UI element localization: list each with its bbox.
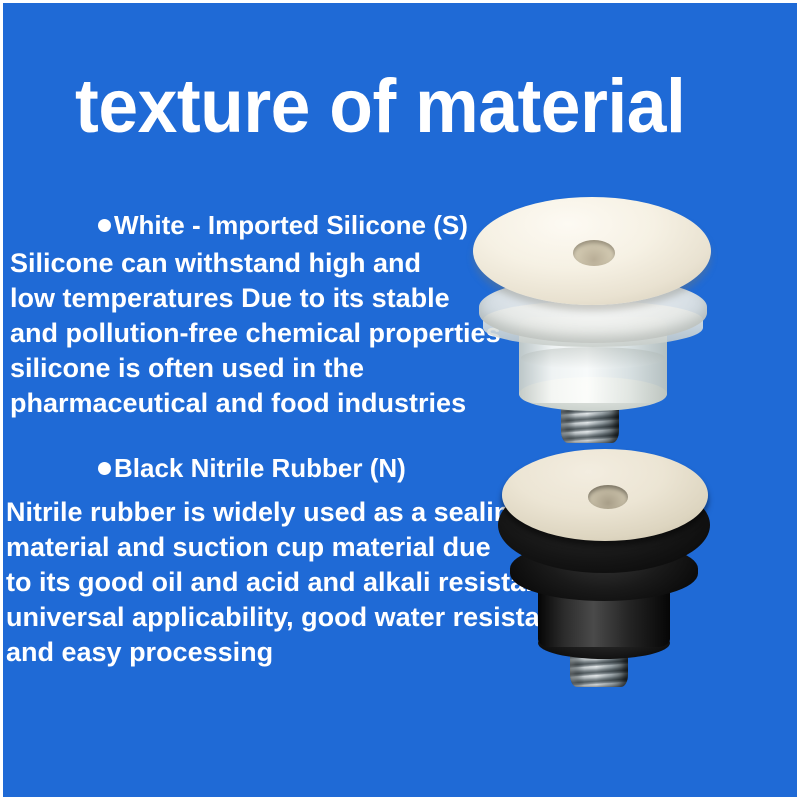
cup-top-disc [502,449,708,541]
product-image-white-silicone-suction-cup [473,189,713,439]
cup-top-disc [473,197,711,305]
product-image-black-nitrile-suction-cup [498,449,713,684]
body-line: and pollution-free chemical properties [10,316,503,351]
section-body-black-nitrile: Nitrile rubber is widely used as a seali… [3,495,548,670]
body-line: to its good oil and acid and alkali resi… [6,565,548,600]
body-line: and easy processing [6,635,548,670]
cup-center-hole [573,240,615,266]
section-heading-label: Black Nitrile Rubber (N) [114,451,406,485]
body-line: material and suction cup material due [6,530,548,565]
page-title: texture of material [75,69,685,145]
section-body-white-silicone: Silicone can withstand high and low temp… [3,246,503,421]
section-heading-label: White - Imported Silicone (S) [114,208,468,242]
filled-circle-bullet-icon [98,219,111,232]
cup-base-ring [521,347,665,369]
body-line: pharmaceutical and food industries [10,386,503,421]
body-line: Nitrile rubber is widely used as a seali… [6,495,548,530]
cup-center-hole [588,485,628,509]
body-line: silicone is often used in the [10,351,503,386]
section-heading-white-silicone: White - Imported Silicone (S) [3,208,503,242]
section-white-silicone: White - Imported Silicone (S) Silicone c… [3,208,503,421]
filled-circle-bullet-icon [98,462,111,475]
section-heading-black-nitrile: Black Nitrile Rubber (N) [3,451,548,485]
body-line: Silicone can withstand high and [10,246,503,281]
section-black-nitrile: Black Nitrile Rubber (N) Nitrile rubber … [3,451,548,670]
body-line: low temperatures Due to its stable [10,281,503,316]
poster-canvas: texture of material White - Imported Sil… [0,0,800,800]
body-line: universal applicability, good water resi… [6,600,548,635]
